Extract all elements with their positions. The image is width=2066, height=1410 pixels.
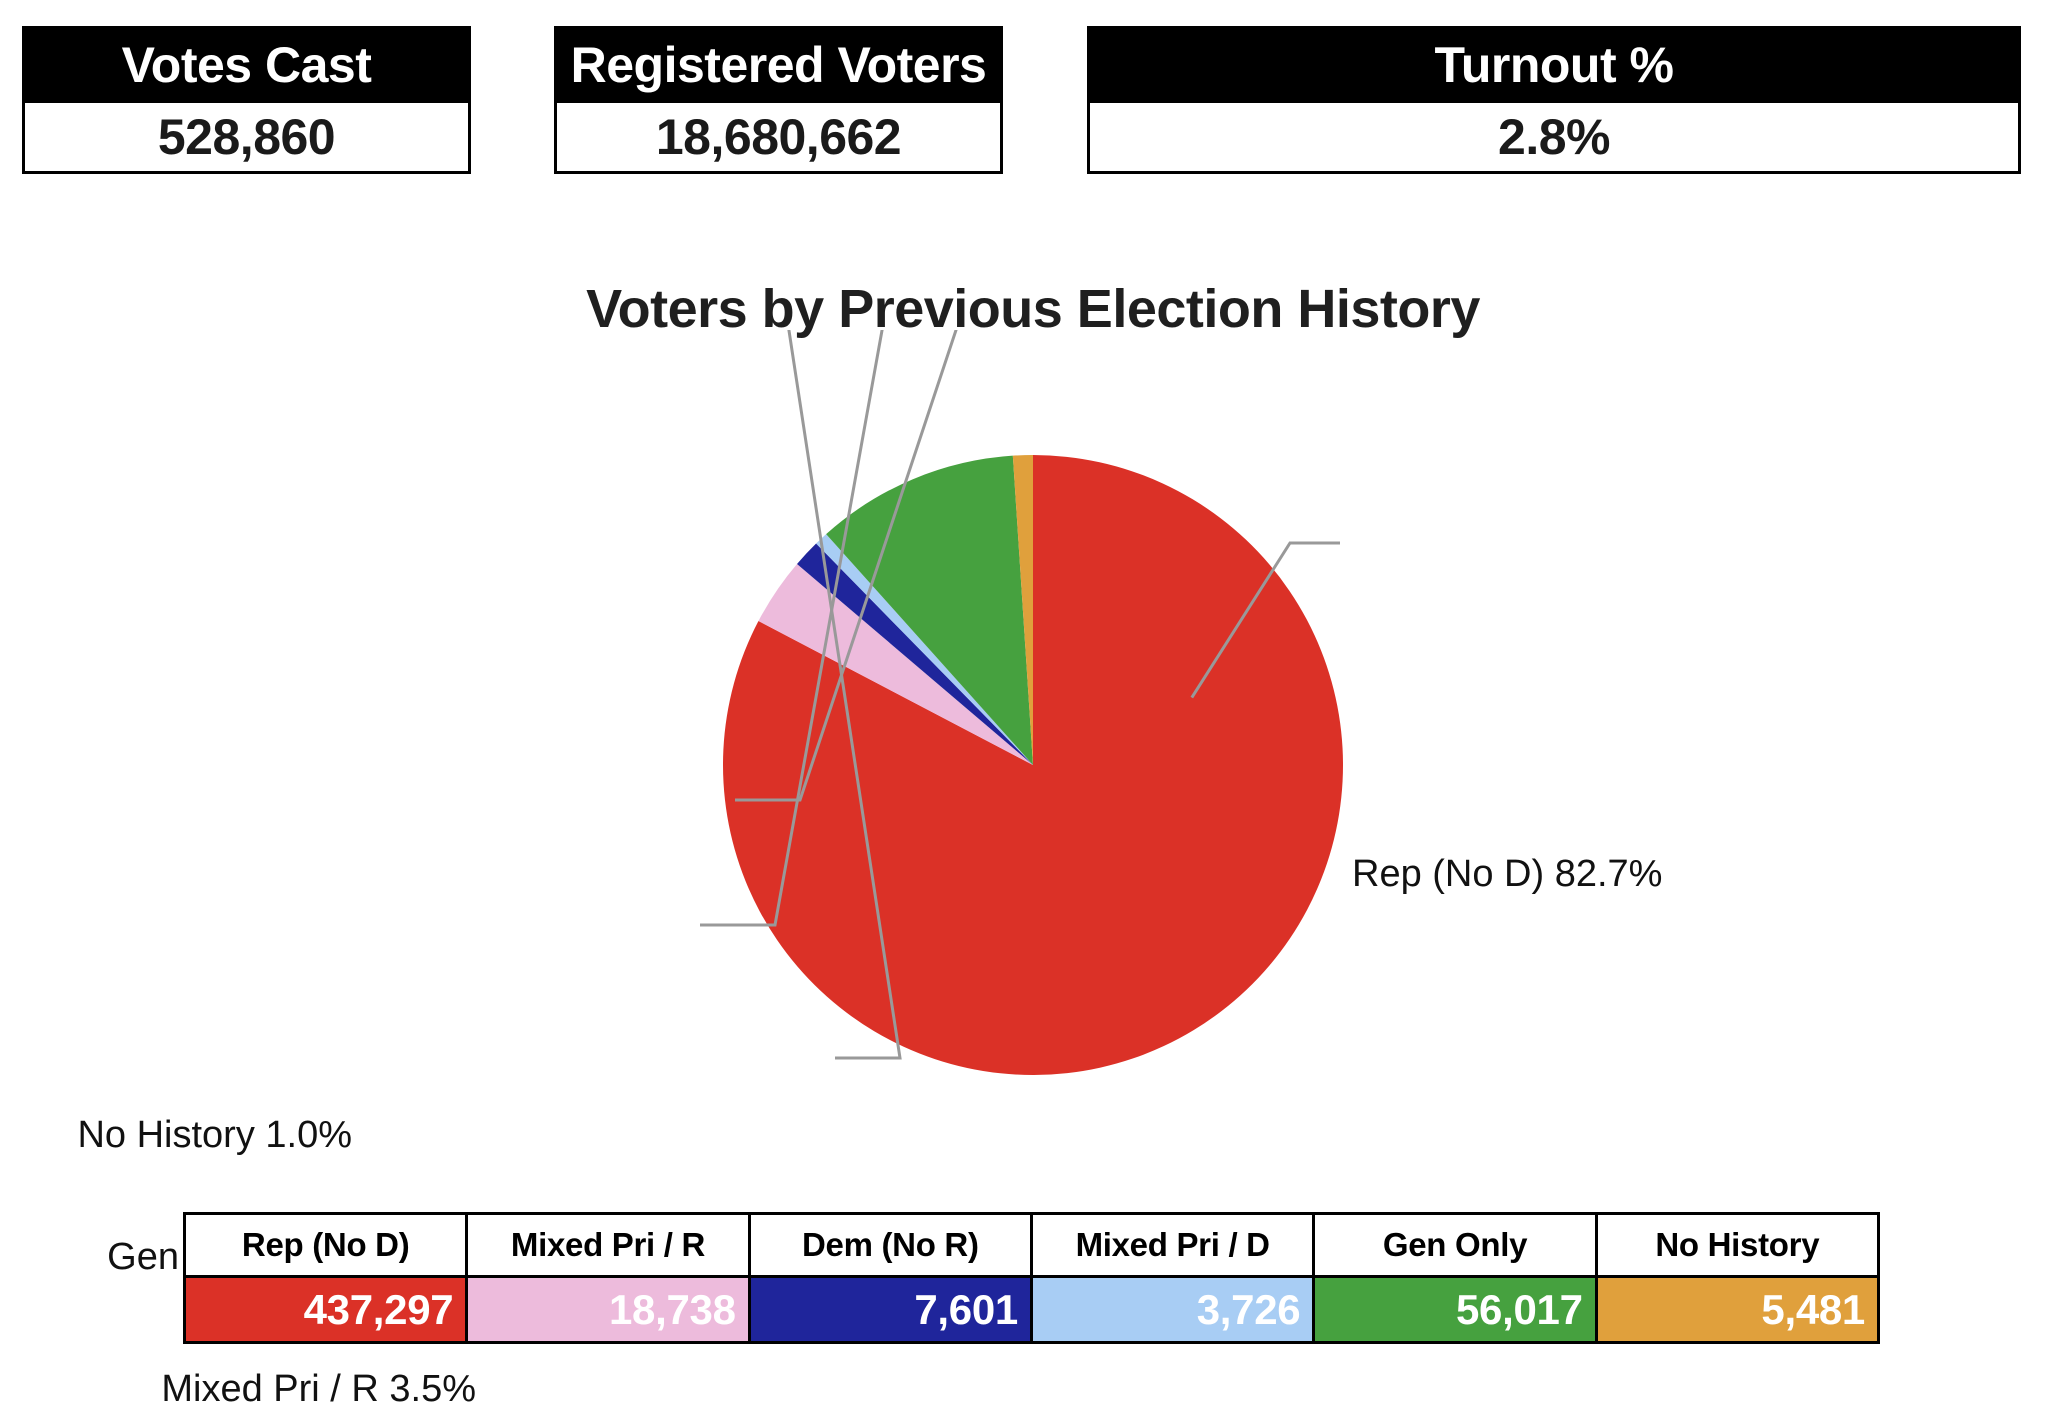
table-value-cell: 7,601	[749, 1277, 1031, 1343]
kpi-card-registered-voters: Registered Voters 18,680,662	[554, 26, 1003, 174]
table-header-cell: Gen Only	[1314, 1214, 1596, 1277]
table-value-row: 437,297 18,738 7,601 3,726 56,017 5,481	[185, 1277, 1879, 1343]
kpi-card-votes-cast: Votes Cast 528,860	[22, 26, 471, 174]
table-value-cell: 56,017	[1314, 1277, 1596, 1343]
table-value-cell: 3,726	[1031, 1277, 1313, 1343]
kpi-value-votes-cast: 528,860	[25, 103, 468, 171]
pie-chart-svg	[0, 330, 2066, 1180]
pie-label-no-history: No History 1.0%	[77, 1116, 352, 1154]
table-header-cell: Mixed Pri / R	[467, 1214, 749, 1277]
pie-label-mixed-pri-r: Mixed Pri / R 3.5%	[161, 1370, 476, 1408]
pie-slice-group	[723, 455, 1343, 1075]
kpi-title-votes-cast: Votes Cast	[25, 29, 468, 103]
kpi-card-row: Votes Cast 528,860 Registered Voters 18,…	[0, 0, 2066, 195]
kpi-title-registered-voters: Registered Voters	[557, 29, 1000, 103]
table-value-cell: 18,738	[467, 1277, 749, 1343]
table-header-row: Rep (No D) Mixed Pri / R Dem (No R) Mixe…	[185, 1214, 1879, 1277]
pie-chart-area: Rep (No D) 82.7% No History 1.0% Gen Onl…	[0, 330, 2066, 1180]
table-header-cell: Mixed Pri / D	[1031, 1214, 1313, 1277]
table-header-cell: No History	[1596, 1214, 1878, 1277]
table-header-cell: Rep (No D)	[185, 1214, 467, 1277]
pie-label-rep-no-d: Rep (No D) 82.7%	[1352, 855, 1662, 893]
table-value-cell: 5,481	[1596, 1277, 1878, 1343]
table-header-cell: Dem (No R)	[749, 1214, 1031, 1277]
kpi-value-turnout-pct: 2.8%	[1090, 103, 2018, 171]
kpi-title-turnout-pct: Turnout %	[1090, 29, 2018, 103]
category-value-table: Rep (No D) Mixed Pri / R Dem (No R) Mixe…	[183, 1212, 1880, 1344]
table-value-cell: 437,297	[185, 1277, 467, 1343]
kpi-card-turnout-pct: Turnout % 2.8%	[1087, 26, 2021, 174]
kpi-value-registered-voters: 18,680,662	[557, 103, 1000, 171]
